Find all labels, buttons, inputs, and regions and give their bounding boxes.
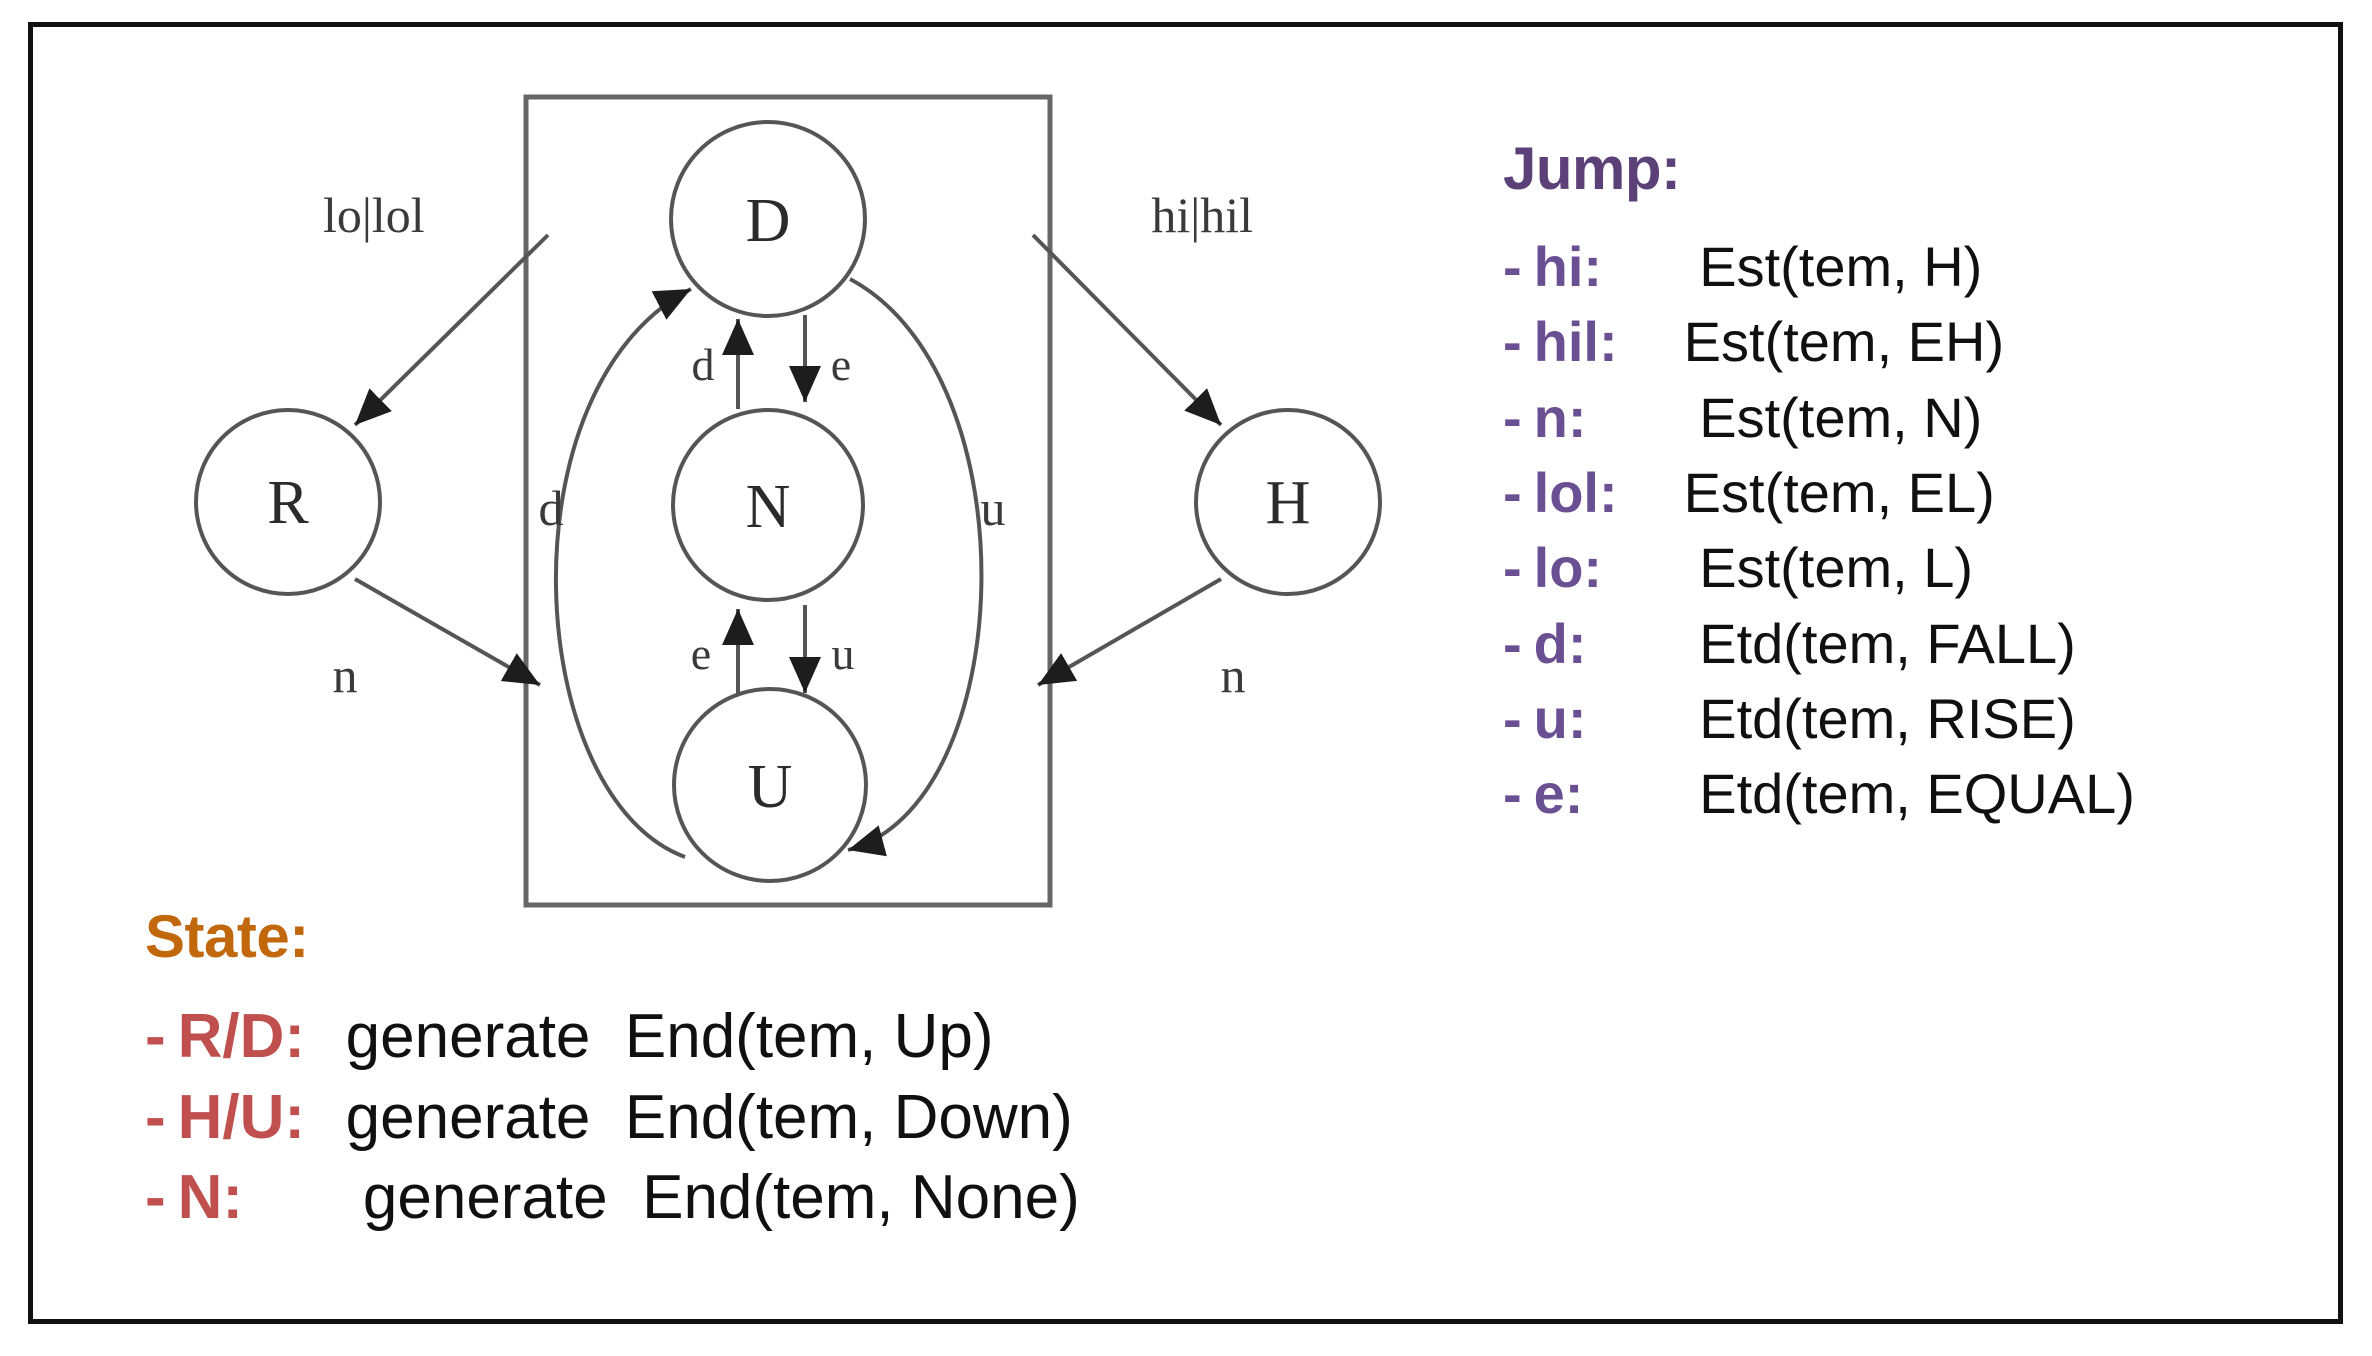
node-n[interactable]: N bbox=[673, 410, 863, 600]
jump-legend-value-1: Est(tem, EH) bbox=[1684, 304, 2004, 379]
node-d-label: D bbox=[746, 187, 791, 255]
edge-u-to-d-arc bbox=[556, 289, 691, 857]
node-d[interactable]: D bbox=[671, 122, 865, 316]
jump-legend-value-0: Est(tem, H) bbox=[1684, 229, 1983, 304]
state-legend-value-2: generate End(tem, None) bbox=[346, 1158, 1080, 1239]
edge-d-to-u-arc bbox=[848, 279, 981, 850]
jump-legend-dash-4: - bbox=[1503, 530, 1522, 605]
edge-label-d-arc: d bbox=[539, 480, 564, 536]
edge-label-lo-lol: lo|lol bbox=[323, 187, 425, 243]
jump-legend: Jump: - hi: Est(tem, H) - hil: Est(tem, … bbox=[1503, 139, 2343, 832]
edge-label-d-inner: d bbox=[692, 339, 715, 390]
state-legend-dash-0: - bbox=[145, 997, 166, 1078]
node-h-label: H bbox=[1266, 469, 1311, 537]
state-legend-item: - H/U: generate End(tem, Down) bbox=[145, 1078, 1445, 1159]
state-legend-dash-1: - bbox=[145, 1078, 166, 1159]
state-legend-item: - N: generate End(tem, None) bbox=[145, 1158, 1445, 1239]
edge-label-u-arc: u bbox=[981, 480, 1006, 536]
jump-legend-item: - u: Etd(tem, RISE) bbox=[1503, 681, 2343, 756]
node-n-label: N bbox=[746, 473, 791, 541]
state-legend-value-0: generate End(tem, Up) bbox=[346, 997, 994, 1078]
jump-legend-dash-1: - bbox=[1503, 304, 1522, 379]
node-r-label: R bbox=[267, 469, 309, 537]
jump-legend-key-2: n: bbox=[1534, 380, 1684, 455]
edge-label-n-left: n bbox=[333, 647, 358, 703]
jump-legend-item: - lol: Est(tem, EL) bbox=[1503, 455, 2343, 530]
edge-box-to-r bbox=[355, 235, 548, 425]
jump-legend-dash-6: - bbox=[1503, 681, 1522, 756]
node-u-label: U bbox=[748, 753, 793, 821]
edge-label-u-lower: u bbox=[832, 628, 855, 679]
jump-legend-dash-5: - bbox=[1503, 606, 1522, 681]
jump-legend-dash-0: - bbox=[1503, 229, 1522, 304]
jump-legend-dash-2: - bbox=[1503, 380, 1522, 455]
jump-legend-key-5: d: bbox=[1534, 606, 1684, 681]
jump-legend-dash-7: - bbox=[1503, 756, 1522, 831]
jump-legend-dash-3: - bbox=[1503, 455, 1522, 530]
state-legend-key-1: H/U: bbox=[178, 1078, 346, 1159]
jump-legend-title: Jump: bbox=[1503, 139, 2343, 199]
edge-box-to-h bbox=[1033, 235, 1221, 425]
jump-legend-value-4: Est(tem, L) bbox=[1684, 530, 1973, 605]
jump-legend-value-6: Etd(tem, RISE) bbox=[1684, 681, 2076, 756]
state-legend-dash-2: - bbox=[145, 1158, 166, 1239]
jump-legend-key-7: e: bbox=[1534, 756, 1684, 831]
state-machine-diagram: lo|lol n hi|hil n d u d e bbox=[93, 57, 1493, 917]
jump-legend-item: - e: Etd(tem, EQUAL) bbox=[1503, 756, 2343, 831]
jump-legend-item: - d: Etd(tem, FALL) bbox=[1503, 606, 2343, 681]
edge-label-n-right: n bbox=[1221, 647, 1246, 703]
jump-legend-item: - hil: Est(tem, EH) bbox=[1503, 304, 2343, 379]
edge-label-e-lower: e bbox=[691, 628, 711, 679]
node-u[interactable]: U bbox=[674, 689, 866, 881]
page-root: lo|lol n hi|hil n d u d e bbox=[0, 0, 2372, 1356]
jump-legend-value-3: Est(tem, EL) bbox=[1684, 455, 1995, 530]
jump-legend-item: - hi: Est(tem, H) bbox=[1503, 229, 2343, 304]
jump-legend-value-5: Etd(tem, FALL) bbox=[1684, 606, 2076, 681]
edge-label-e-inner: e bbox=[831, 339, 851, 390]
state-legend-key-0: R/D: bbox=[178, 997, 346, 1078]
state-legend-item: - R/D: generate End(tem, Up) bbox=[145, 997, 1445, 1078]
jump-legend-key-1: hil: bbox=[1534, 304, 1684, 379]
outer-frame: lo|lol n hi|hil n d u d e bbox=[28, 22, 2343, 1324]
state-legend-title: State: bbox=[145, 907, 1445, 967]
node-h[interactable]: H bbox=[1196, 410, 1380, 594]
node-r[interactable]: R bbox=[196, 410, 380, 594]
jump-legend-key-3: lol: bbox=[1534, 455, 1684, 530]
jump-legend-item: - n: Est(tem, N) bbox=[1503, 380, 2343, 455]
jump-legend-value-2: Est(tem, N) bbox=[1684, 380, 1983, 455]
jump-legend-item: - lo: Est(tem, L) bbox=[1503, 530, 2343, 605]
jump-legend-key-0: hi: bbox=[1534, 229, 1684, 304]
jump-legend-key-4: lo: bbox=[1534, 530, 1684, 605]
jump-legend-key-6: u: bbox=[1534, 681, 1684, 756]
state-legend-value-1: generate End(tem, Down) bbox=[346, 1078, 1073, 1159]
edge-r-to-box bbox=[355, 579, 540, 685]
jump-legend-value-7: Etd(tem, EQUAL) bbox=[1684, 756, 2135, 831]
state-legend: State: - R/D: generate End(tem, Up) - H/… bbox=[145, 907, 1445, 1239]
edge-label-hi-hil: hi|hil bbox=[1151, 187, 1253, 243]
state-legend-key-2: N: bbox=[178, 1158, 346, 1239]
edge-h-to-box bbox=[1038, 579, 1221, 685]
